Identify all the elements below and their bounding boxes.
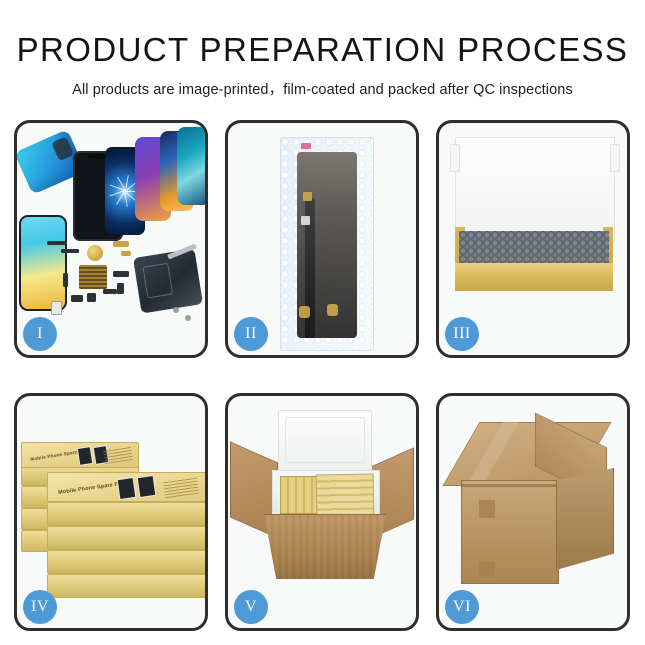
process-step-panel-5: V [225,393,419,631]
carton-hand-hole [479,500,495,518]
step-badge-6: VI [445,590,479,624]
box-stack: Mobile Phone Spare Parts Mobile Phone Sp… [21,412,207,610]
sim-tray-part [117,283,124,294]
mailer-box-lid-tab [610,144,620,172]
gold-flex-part [113,241,129,247]
mailer-box-front-panel [455,263,613,291]
carton-body [264,514,386,579]
stacked-box [47,526,207,550]
phone-front-display [19,215,67,311]
sensor-part [51,301,62,315]
bubble-wrap-bag [280,137,374,351]
camera-part [71,295,83,302]
process-step-panel-4: Mobile Phone Spare Parts Mobile Phone Sp… [14,393,208,631]
mailer-box-lid [455,137,615,243]
box-artwork-phone [137,475,157,498]
pink-label-sticker [301,143,311,149]
connector-part [113,271,129,277]
wrapped-connector [303,192,312,201]
box-artwork-phone [117,477,137,500]
wrapped-connector [327,304,338,316]
infographic-sheet: PRODUCT PREPARATION PROCESS All products… [0,0,645,645]
stacked-box [47,550,207,574]
wrapped-connector [299,306,310,318]
process-step-grid: I II [14,120,631,588]
phone-teal-display [177,127,208,205]
stacked-box-top-rear: Mobile Phone Spare Parts [21,442,139,468]
stacked-box [47,574,207,598]
foam-lid [278,410,372,474]
stacked-box [47,502,207,526]
box-artwork-phone [77,446,94,466]
foam-padding-insert [459,231,609,265]
carton-hand-hole [479,562,495,578]
carton-seam [461,484,557,487]
carton-front-face [461,480,559,584]
button-part [63,273,68,287]
process-step-panel-6: VI [436,393,630,631]
process-step-panel-3: III [436,120,630,358]
ribbon-part [47,241,67,245]
antenna-part [103,289,117,294]
wrapped-connector [301,216,310,225]
header: PRODUCT PREPARATION PROCESS All products… [0,0,645,99]
vibrator-part [87,293,96,302]
step-badge-2: II [234,317,268,351]
logic-board-part [79,265,107,289]
step-badge-1: I [23,317,57,351]
step-badge-3: III [445,317,479,351]
screw-part [173,307,179,313]
packed-yellow-boxes [316,473,375,516]
gold-contact-part [121,251,131,256]
step-badge-5: V [234,590,268,624]
stacked-box-top-front: Mobile Phone Spare Parts [47,472,207,502]
gold-speaker-part [87,245,103,261]
screw-part [185,315,191,321]
page-subtitle: All products are image-printed，film-coat… [0,78,645,99]
process-step-panel-2: II [225,120,419,358]
carton-right-face [556,468,614,570]
page-title: PRODUCT PREPARATION PROCESS [0,33,645,66]
flex-cable-part [61,249,79,253]
step-badge-4: IV [23,590,57,624]
process-step-panel-1: I [14,120,208,358]
